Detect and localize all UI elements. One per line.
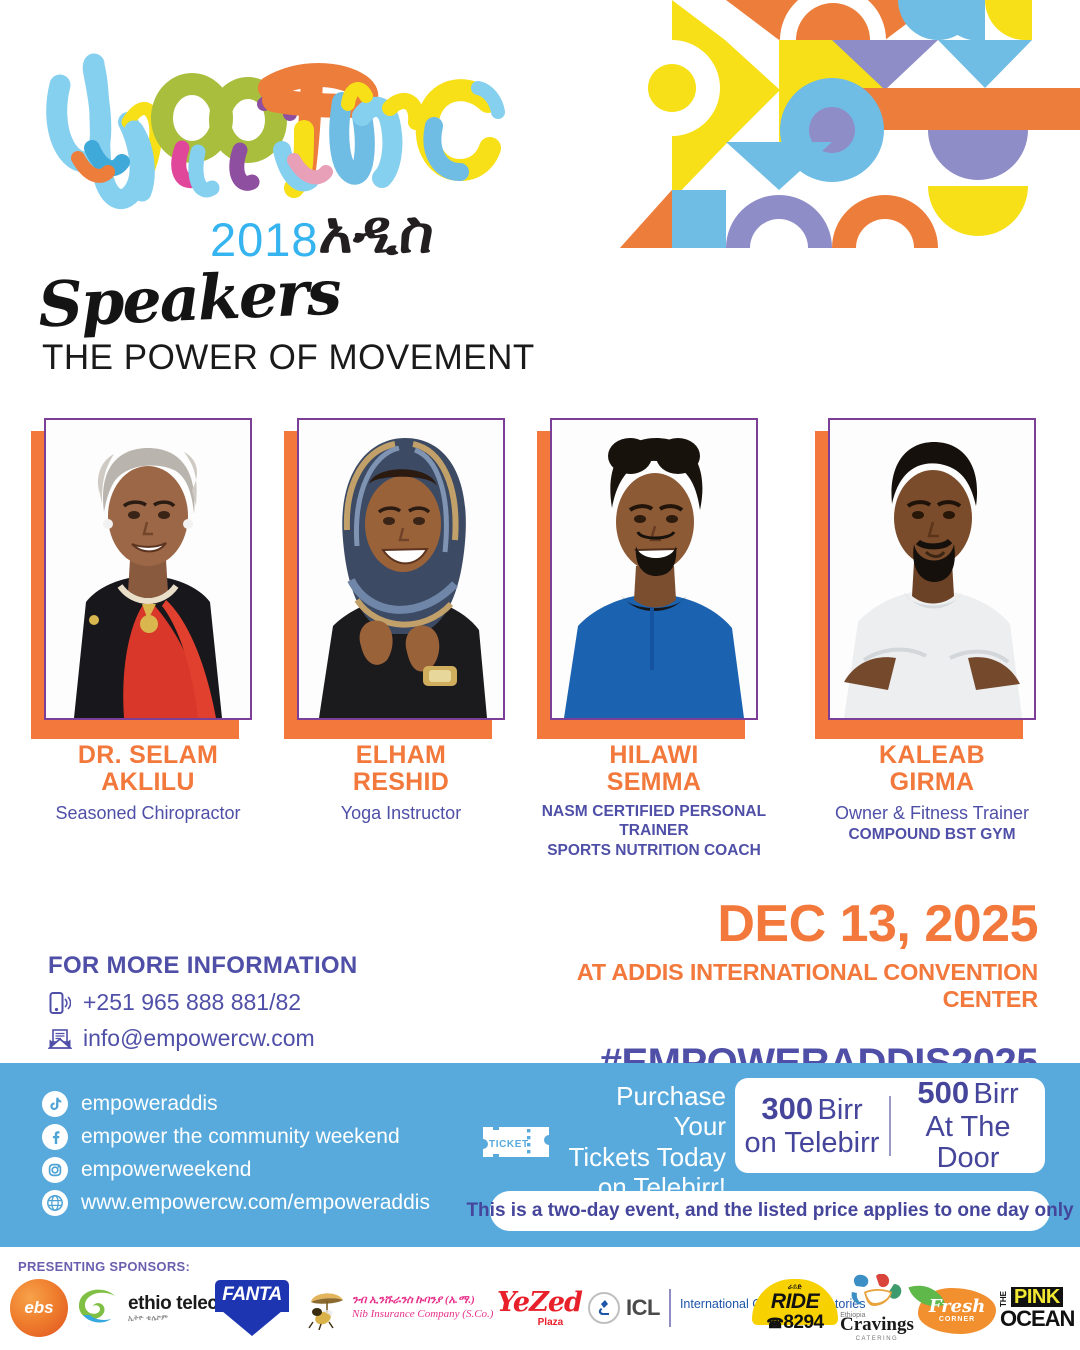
two-day-notice-text: This is a two-day event, and the listed … (466, 1200, 1073, 1222)
speaker-name-line1: KALEAB (879, 741, 985, 769)
icl-divider (669, 1289, 671, 1327)
price-card: 300 Birr on Telebirr 500 Birr At The Doo… (735, 1078, 1045, 1173)
page-title-speakers: Speakers (37, 255, 342, 341)
globe-icon (42, 1190, 68, 1216)
ticket-cta-text: Purchase Your Tickets Today on Telebirr! (568, 1081, 726, 1203)
ticket-cta-line1: Purchase Your (616, 1081, 726, 1141)
social-handle-tiktok: empoweraddis (81, 1092, 218, 1116)
sponsor-logo-cravings: Cravings CATERING (840, 1275, 914, 1341)
speaker-role: Seasoned Chiropractor (22, 803, 274, 825)
cravings-bowl-icon (850, 1274, 904, 1308)
pink-ocean-pink-word: PINK (1011, 1287, 1063, 1307)
speaker-role-extra: SPORTS NUTRITION COACH (528, 841, 780, 860)
footer-band: empoweraddis empower the community weeke… (0, 1063, 1080, 1247)
contact-heading: FOR MORE INFORMATION (48, 952, 478, 980)
social-link-facebook[interactable]: empower the community weekend (42, 1124, 430, 1150)
speaker-role: Owner & Fitness Trainer (806, 803, 1058, 825)
page-subtitle: THE POWER OF MOVEMENT (42, 338, 535, 378)
ebs-logo-text: ebs (24, 1298, 53, 1318)
price-door: 500 Birr At The Door (891, 1076, 1045, 1176)
sponsor-logo-ebs: ebs (10, 1275, 68, 1341)
cravings-logo: Cravings CATERING (840, 1274, 914, 1342)
speaker-photo (297, 418, 505, 720)
sponsor-logo-ride: ራይድ RIDE ☎8294 (752, 1275, 838, 1341)
social-link-instagram[interactable]: empowerweekend (42, 1157, 430, 1183)
speaker-photo-frame (550, 418, 758, 726)
social-link-website[interactable]: www.empowercw.com/empoweraddis (42, 1190, 430, 1216)
pink-ocean-ocean-word: OCEAN (1000, 1308, 1074, 1330)
cravings-tagline: CATERING (840, 1336, 914, 1342)
speaker-name-line2: RESHID (353, 768, 449, 796)
social-link-tiktok[interactable]: empoweraddis (42, 1091, 430, 1117)
social-links-list: empoweraddis empower the community weeke… (42, 1091, 430, 1223)
ride-logo: ራይድ RIDE ☎8294 (752, 1279, 838, 1337)
icl-microscope-icon (588, 1292, 620, 1324)
logo-script-artwork (42, 30, 512, 230)
social-handle-facebook: empower the community weekend (81, 1125, 400, 1149)
icl-abbreviation: ICL (626, 1295, 660, 1321)
price-door-amount: 500 (917, 1075, 969, 1110)
fanta-wordmark: FANTA (215, 1284, 289, 1306)
contact-phone-row[interactable]: +251 965 888 881/82 (48, 989, 478, 1016)
speaker-photo-frame (828, 418, 1036, 726)
speaker-card: KALEAB GIRMA Owner & Fitness Trainer COM… (806, 418, 1058, 844)
speaker-name: KALEAB GIRMA (806, 742, 1058, 796)
speaker-card: ELHAM RESHID Yoga Instructor (275, 418, 527, 825)
sponsor-logo-fanta: FANTA (215, 1275, 289, 1341)
sponsors-section: PRESENTING SPONSORS: ebs ethio telecom ኢ… (0, 1255, 1080, 1350)
speaker-card: DR. SELAM AKLILU Seasoned Chiropractor (22, 418, 274, 825)
sponsor-logos-row: ebs ethio telecom ኢትዮ ቴሌኮም FANTA (0, 1275, 1080, 1341)
ticket-cta-group: TICKET Purchase Your Tickets Today on Te… (480, 1081, 726, 1203)
speaker-name: ELHAM RESHID (275, 742, 527, 796)
ride-wordmark: RIDE (752, 1290, 838, 1314)
ticket-cta-line2: Tickets Today (568, 1142, 726, 1172)
event-logo: 2018 አዲስ (42, 30, 512, 250)
speaker-card: HILAWI SEMMA NASM CERTIFIED PERSONAL TRA… (528, 418, 780, 860)
speaker-name-line1: DR. SELAM (78, 741, 218, 769)
mobile-phone-icon (48, 990, 72, 1016)
event-venue: AT ADDIS INTERNATIONAL CONVENTION CENTER (478, 959, 1038, 1013)
contact-email-value: info@empowercw.com (83, 1025, 315, 1052)
speaker-name-line1: ELHAM (356, 741, 446, 769)
speaker-role: Yoga Instructor (275, 803, 527, 825)
event-date: DEC 13, 2025 (478, 898, 1038, 950)
two-day-notice-bar: This is a two-day event, and the listed … (490, 1191, 1050, 1231)
yezed-wordmark: YeZed (497, 1289, 582, 1316)
pink-ocean-logo: THE PINK OCEAN (1000, 1287, 1074, 1330)
speaker-name: HILAWI SEMMA (528, 742, 780, 796)
yezed-plaza-text: Plaza (519, 1318, 582, 1328)
speaker-photo (550, 418, 758, 720)
cravings-wordmark: Cravings (840, 1315, 914, 1334)
contact-phone-value: +251 965 888 881/82 (83, 989, 301, 1016)
sponsor-logo-yezed-plaza: YeZed Plaza (497, 1275, 582, 1341)
tiktok-icon (42, 1091, 68, 1117)
speaker-name-line2: SEMMA (607, 768, 702, 796)
social-handle-website: www.empowercw.com/empoweraddis (81, 1191, 430, 1215)
fanta-logo: FANTA (215, 1280, 289, 1336)
speaker-role-extra: COMPOUND BST GYM (806, 825, 1058, 844)
instagram-icon (42, 1157, 68, 1183)
ebs-logo: ebs (10, 1279, 68, 1337)
sponsor-logo-nib-insurance: ንብ ኢንሹራንስ ኩባንያ (አ.ማ.) Nib Insurance Comp… (307, 1275, 493, 1341)
speaker-name: DR. SELAM AKLILU (22, 742, 274, 796)
pink-ocean-top-row: THE PINK (1000, 1287, 1074, 1307)
speakers-grid: DR. SELAM AKLILU Seasoned Chiropractor (0, 418, 1080, 858)
yezed-logo: YeZed Plaza (497, 1289, 582, 1328)
fresh-corner-wordmark: Fresh (918, 1296, 996, 1317)
speaker-photo (828, 418, 1036, 720)
social-handle-instagram: empowerweekend (81, 1158, 251, 1182)
price-advance-where: on Telebirr (735, 1128, 889, 1160)
speaker-role: NASM CERTIFIED PERSONAL TRAINER (528, 803, 780, 841)
contact-info-block: FOR MORE INFORMATION +251 965 888 881/82… (48, 952, 478, 1052)
nib-english-name: Nib Insurance Company (S.Co.) (352, 1308, 493, 1322)
nib-bee-umbrella-icon (307, 1286, 347, 1330)
speaker-name-line2: AKLILU (101, 768, 194, 796)
speaker-photo-frame (297, 418, 505, 726)
envelope-icon (48, 1026, 72, 1052)
nib-amharic-name: ንብ ኢንሹራንስ ኩባንያ (አ.ማ.) (352, 1294, 493, 1308)
svg-text:TICKET: TICKET (489, 1139, 529, 1150)
price-advance: 300 Birr on Telebirr (735, 1092, 889, 1160)
ethio-telecom-mark (75, 1287, 121, 1329)
geometric-pattern-decoration (620, 0, 1080, 248)
price-door-where: At The Door (891, 1112, 1045, 1176)
nib-wordmark: ንብ ኢንሹራንስ ኩባንያ (አ.ማ.) Nib Insurance Comp… (352, 1294, 493, 1322)
price-advance-amount: 300 (761, 1091, 813, 1126)
speaker-photo (44, 418, 252, 720)
speaker-name-line1: HILAWI (609, 741, 698, 769)
contact-email-row[interactable]: info@empowercw.com (48, 1025, 478, 1052)
speaker-name-line2: GIRMA (890, 768, 975, 796)
fresh-corner-subtext: CORNER (918, 1316, 996, 1323)
price-advance-currency: Birr (818, 1094, 863, 1126)
event-date-block: DEC 13, 2025 AT ADDIS INTERNATIONAL CONV… (478, 898, 1038, 1086)
price-door-currency: Birr (974, 1078, 1019, 1110)
ride-number: 8294 (783, 1312, 823, 1333)
ticket-icon: TICKET (480, 1118, 552, 1166)
pink-ocean-the: THE (1000, 1289, 1008, 1307)
sponsor-logo-pink-ocean: THE PINK OCEAN (1000, 1275, 1074, 1341)
sponsors-heading: PRESENTING SPONSORS: (18, 1259, 190, 1274)
fanta-point-shape (222, 1311, 282, 1336)
facebook-icon (42, 1124, 68, 1150)
speaker-photo-frame (44, 418, 252, 726)
ride-shortcode: ☎8294 (752, 1312, 838, 1334)
sponsor-logo-fresh-corner: Fresh CORNER (912, 1275, 996, 1341)
fresh-corner-logo: Fresh CORNER (912, 1280, 996, 1336)
